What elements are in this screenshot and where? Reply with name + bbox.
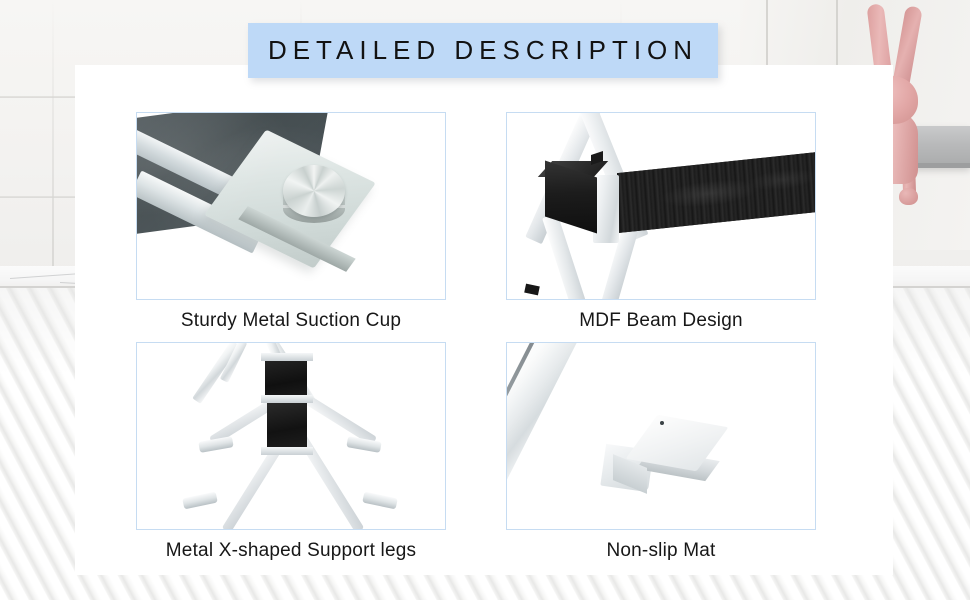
center-beam-lower: [267, 403, 307, 451]
section-banner: DETAILED DESCRIPTION: [248, 23, 718, 78]
chrome-band: [261, 353, 313, 361]
leg-foot: [198, 436, 233, 453]
feature-caption: Metal X-shaped Support legs: [136, 530, 446, 572]
feature-cell-mdf-beam[interactable]: MDF Beam Design: [506, 112, 816, 342]
feature-photo-x-legs[interactable]: [136, 342, 446, 530]
feature-grid: Sturdy Metal Suction Cup: [136, 112, 836, 572]
chrome-band: [261, 447, 313, 455]
feature-caption: Non-slip Mat: [506, 530, 816, 572]
room-background-scene: Sturdy Metal Suction Cup: [0, 0, 970, 600]
feature-caption: Sturdy Metal Suction Cup: [136, 300, 446, 342]
leg-foot: [346, 436, 381, 453]
beam-bracket-nub: [524, 284, 540, 296]
feature-photo-mdf-beam[interactable]: [506, 112, 816, 300]
feature-caption: MDF Beam Design: [506, 300, 816, 342]
rabbit-foot-right: [899, 188, 918, 205]
feature-photo-suction-cup[interactable]: [136, 112, 446, 300]
chrome-band: [261, 395, 313, 403]
mdf-beam: [617, 149, 816, 233]
page-title: DETAILED DESCRIPTION: [268, 35, 698, 66]
feature-cell-suction-cup[interactable]: Sturdy Metal Suction Cup: [136, 112, 446, 342]
center-beam-upper: [265, 357, 307, 399]
leg-foot: [182, 492, 218, 510]
feature-cell-non-slip-mat[interactable]: Non-slip Mat: [506, 342, 816, 572]
feature-photo-non-slip-mat[interactable]: [506, 342, 816, 530]
content-card: Sturdy Metal Suction Cup: [75, 65, 893, 575]
wall-seam: [52, 0, 54, 286]
beam-wood-grain: [617, 149, 816, 233]
suction-cup-disc: [283, 165, 345, 217]
feature-cell-x-legs[interactable]: Metal X-shaped Support legs: [136, 342, 446, 572]
leg-foot: [362, 492, 398, 510]
pad-corner-detail: [660, 421, 664, 425]
